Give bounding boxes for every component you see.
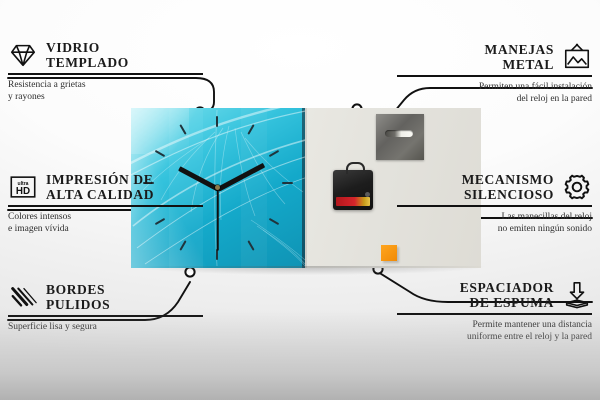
callout-sub-line2: e imagen vívida bbox=[8, 223, 203, 235]
callout-sub-line1: Las manecillas del reloj bbox=[397, 211, 592, 223]
callout-manejas-metal[interactable]: MANEJAS METAL Permiten una fácil instala… bbox=[397, 42, 592, 105]
callout-espaciador-de-espuma[interactable]: ESPACIADOR DE ESPUMA Permite mantener un… bbox=[397, 280, 592, 343]
callout-title-line1: MECANISMO bbox=[397, 172, 554, 187]
callout-divider bbox=[8, 205, 203, 207]
callout-bordes-pulidos[interactable]: BORDES PULIDOS Superficie lisa y segura bbox=[8, 282, 203, 333]
callout-divider bbox=[397, 205, 592, 207]
callout-title-line1: BORDES bbox=[46, 282, 203, 297]
movement-dial-icon bbox=[365, 192, 370, 197]
callout-sub-line1: Permite mantener una distancia bbox=[397, 319, 592, 331]
callout-title-line2: DE ESPUMA bbox=[397, 295, 554, 310]
callout-sub-line2: uniforme entre el reloj y la pared bbox=[397, 331, 592, 343]
callout-sub-line1: Resistencia a grietas bbox=[8, 79, 203, 91]
callout-divider bbox=[8, 73, 203, 75]
movement-hanging-loop-icon bbox=[346, 162, 365, 174]
battery-icon bbox=[336, 197, 370, 206]
callout-title-line2: TEMPLADO bbox=[46, 55, 203, 70]
clock-center-pivot bbox=[215, 185, 220, 190]
callout-sub-line1: Permiten una fácil instalación bbox=[397, 81, 592, 93]
callout-sub-line2: no emiten ningún sonido bbox=[397, 223, 592, 235]
infographic-canvas: VIDRIO TEMPLADO Resistencia a grietas y … bbox=[0, 0, 600, 400]
callout-title-line1: MANEJAS bbox=[397, 42, 554, 57]
callout-title-line2: PULIDOS bbox=[46, 297, 203, 312]
clock-tick-12 bbox=[216, 116, 218, 127]
callout-title-line1: IMPRESIÓN DE bbox=[46, 172, 203, 187]
arrow-down-pad-icon bbox=[562, 280, 592, 310]
picture-frame-hanging-icon bbox=[562, 42, 592, 72]
callout-vidrio-templado[interactable]: VIDRIO TEMPLADO Resistencia a grietas y … bbox=[8, 40, 203, 103]
callout-title-line1: VIDRIO bbox=[46, 40, 203, 55]
ultra-hd-icon: ultra HD bbox=[8, 172, 38, 202]
callout-mecanismo-silencioso[interactable]: MECANISMO SILENCIOSO Las manecillas del … bbox=[397, 172, 592, 235]
callout-sub-line2: y rayones bbox=[8, 91, 203, 103]
diamond-icon bbox=[8, 40, 38, 70]
polished-edges-icon bbox=[8, 282, 38, 312]
metal-hanger-plate-icon bbox=[376, 114, 424, 160]
callout-sub-line1: Colores intensos bbox=[8, 211, 203, 223]
callout-divider bbox=[397, 75, 592, 77]
callout-divider bbox=[8, 315, 203, 317]
callout-impresion-alta-calidad[interactable]: ultra HD IMPRESIÓN DE ALTA CALIDAD Color… bbox=[8, 172, 203, 235]
callout-sub-line1: Superficie lisa y segura bbox=[8, 321, 203, 333]
foam-spacer-icon bbox=[381, 245, 397, 261]
callout-divider bbox=[397, 313, 592, 315]
callout-title-line2: METAL bbox=[397, 57, 554, 72]
callout-title-line1: ESPACIADOR bbox=[397, 280, 554, 295]
callout-sub-line2: del reloj en la pared bbox=[397, 93, 592, 105]
svg-text:HD: HD bbox=[16, 186, 30, 197]
clock-movement-box-icon bbox=[333, 170, 373, 210]
callout-title-line2: SILENCIOSO bbox=[397, 187, 554, 202]
clock-second-hand bbox=[217, 189, 219, 251]
gear-icon bbox=[562, 172, 592, 202]
hanger-slot-icon bbox=[385, 130, 413, 137]
callout-title-line2: ALTA CALIDAD bbox=[46, 187, 203, 202]
clock-tick-3 bbox=[282, 182, 293, 184]
